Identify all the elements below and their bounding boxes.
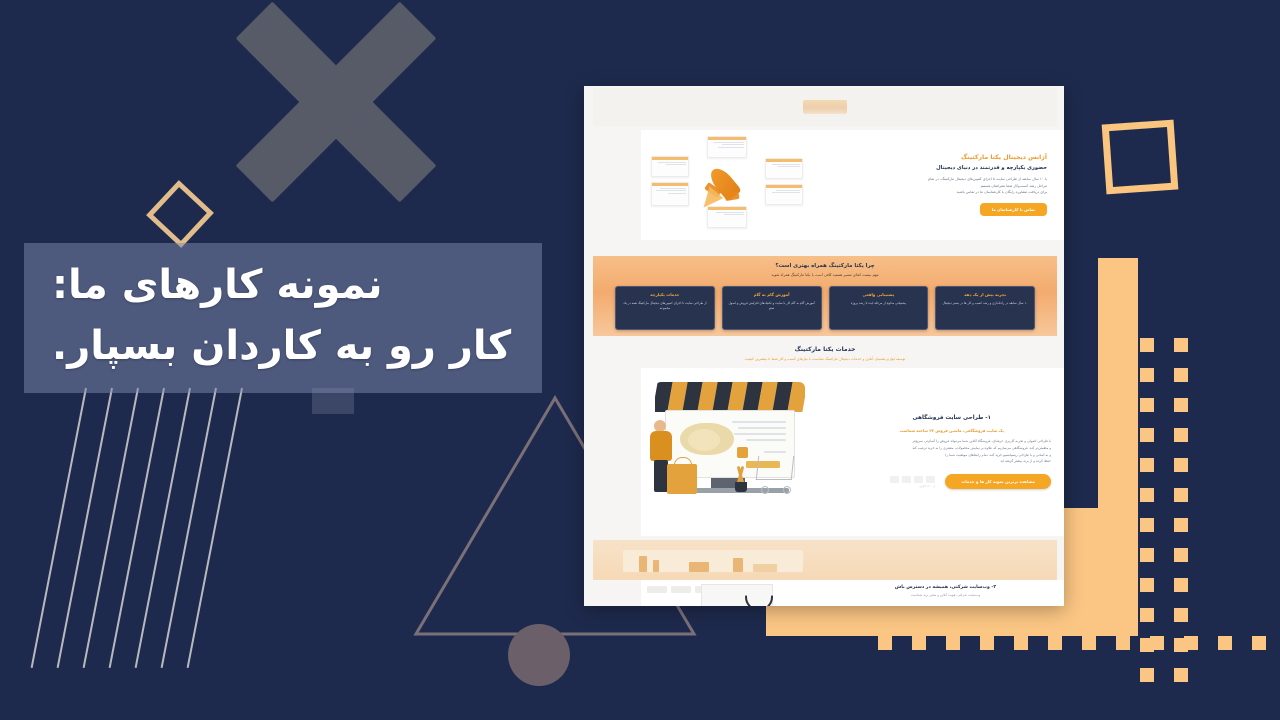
service-text-block: ۱- طراحی سایت فروشگاهی یک سایت فروشگاهی،… <box>845 415 1064 490</box>
bottom-text-block: ۲- وب‌سایت شرکتی، همیشه در دسترس باش وب‌… <box>836 580 1064 597</box>
service-meta-note: از ۱۴۰۰ تاکنون <box>890 485 935 488</box>
why-card-title: تجربه بیش از یک دهه <box>941 292 1029 297</box>
hero-paragraph-2: مراحل رشد کسب‌وکار شما همراهتان هستیم <box>842 183 1047 190</box>
why-card-title: آموزش گام به گام <box>728 292 816 297</box>
why-card-title: خدمات یکپارچه <box>621 292 709 297</box>
hero-title: آژانس دیجیتال یکتا مارکتینگ <box>842 154 1047 161</box>
service-item-highlight: یک سایت فروشگاهی، ماشین فروش ۲۴ ساعته شم… <box>853 428 1051 433</box>
circle-decoration <box>508 624 570 686</box>
shop-illustration <box>641 368 845 536</box>
service-paragraph-3: و به آسانی و با طراحی ریسپانسیو خرید کند… <box>853 452 1051 459</box>
headphone-product-icon <box>680 423 734 455</box>
why-card-text: ۱۰ سال سابقه در راه‌اندازی و رشد کسب و ک… <box>941 301 1029 307</box>
diamond-outline-decoration <box>146 180 214 248</box>
dot-grid-vertical-decoration <box>1140 338 1188 682</box>
hero-text-block: آژانس دیجیتال یکتا مارکتینگ حضوری یکپارچ… <box>836 154 1064 216</box>
why-card-text: پشتیبانی مداوم از مرحله ایده تا رشد پروژ… <box>835 301 923 307</box>
hero-paragraph-1: با ۱۰ سال سابقه از طراحی سایت تا اجرای ک… <box>842 176 1047 183</box>
why-title: چرا یکتا مارکتینگ همراه بهتری است؟ <box>617 263 1033 269</box>
bottom-illustration <box>641 580 836 606</box>
plant-icon <box>733 464 749 492</box>
hero-paragraph-3: برای دریافت مشاوره رایگان با کارشناسان م… <box>842 189 1047 196</box>
site-header <box>593 88 1057 126</box>
why-card[interactable]: پشتیبانی واقعی پشتیبانی مداوم از مرحله ا… <box>829 286 929 330</box>
why-card-title: پشتیبانی واقعی <box>835 292 923 297</box>
service-meta-block: از ۱۴۰۰ تاکنون <box>890 476 935 488</box>
bottom-service-card: ۲- وب‌سایت شرکتی، همیشه در دسترس باش وب‌… <box>641 580 1064 606</box>
bottom-item-subtitle: وب‌سایت شرکتی، هویت آنلاین و معتبر برند … <box>836 593 1055 597</box>
service-item-card: ۱- طراحی سایت فروشگاهی یک سایت فروشگاهی،… <box>641 368 1064 536</box>
service-paragraph-2: و مطمئن‌تر کند. فروشگاهی می‌سازیم که علا… <box>853 445 1051 452</box>
service-paragraph-1: با طراحی اصولی و تجربه کاربری حرفه‌ای، ف… <box>853 438 1051 445</box>
shopping-cart-icon <box>753 450 797 494</box>
shopping-bag-icon <box>667 464 697 494</box>
cross-shape-decoration <box>228 8 443 196</box>
bottom-decor-strip <box>593 540 1057 580</box>
caption-line-2: کار رو به کاردان بسپار. <box>52 316 511 377</box>
caption-line-1: نمونه کارهای ما: <box>52 255 383 316</box>
why-card[interactable]: تجربه بیش از یک دهه ۱۰ سال سابقه در راه‌… <box>935 286 1035 330</box>
services-header: خدمات یکتا مارکتینگ توسعه لوازم پشتیبان … <box>593 346 1057 361</box>
why-card-text: از طراحی سایت تا اجرای کمپین‌های دیجیتال… <box>621 301 709 312</box>
why-subtitle: مهم نیست کجای مسیر هستید کافی است با یکت… <box>617 273 1033 277</box>
caption-panel: نمونه کارهای ما: کار رو به کاردان بسپار. <box>24 243 542 393</box>
why-card-text: آموزش گام به گام کار با سایت و تکنیک‌های… <box>728 301 816 312</box>
hero-subtitle: حضوری یکپارچه و قدرتمند در دنیای دیجیتال <box>842 165 1047 171</box>
diagonal-lines-decoration <box>85 388 335 663</box>
service-item-title: ۱- طراحی سایت فروشگاهی <box>853 415 1051 421</box>
square-outline-decoration <box>1102 120 1179 195</box>
bottom-item-title: ۲- وب‌سایت شرکتی، همیشه در دسترس باش <box>836 585 1055 590</box>
site-logo <box>803 100 847 114</box>
service-paragraph-4: حفظ کرده و از برند بیشتر گرفته اید <box>853 458 1051 465</box>
shop-awning-icon <box>655 382 805 412</box>
why-card[interactable]: آموزش گام به گام آموزش گام به گام کار با… <box>722 286 822 330</box>
why-card[interactable]: خدمات یکپارچه از طراحی سایت تا اجرای کمپ… <box>615 286 715 330</box>
dot-grid-horizontal-decoration <box>878 636 1266 650</box>
why-cards-row: تجربه بیش از یک دهه ۱۰ سال سابقه در راه‌… <box>615 286 1035 330</box>
website-screenshot: آژانس دیجیتال یکتا مارکتینگ حضوری یکپارچ… <box>584 86 1064 606</box>
services-subtitle: توسعه لوازم پشتیبان آنلاین و خدمات دیجیت… <box>593 357 1057 361</box>
services-title: خدمات یکتا مارکتینگ <box>593 346 1057 353</box>
website-viewport: آژانس دیجیتال یکتا مارکتینگ حضوری یکپارچ… <box>593 88 1057 606</box>
service-cta-button[interactable]: مشاهده برترین نمونه کار ها و خدمات <box>945 474 1051 489</box>
hero-section: آژانس دیجیتال یکتا مارکتینگ حضوری یکپارچ… <box>641 130 1064 240</box>
service-footer-row: مشاهده برترین نمونه کار ها و خدمات از ۱۴… <box>853 474 1051 489</box>
orange-block-decoration <box>1098 258 1138 636</box>
hero-rocket-illustration <box>641 130 836 240</box>
hero-cta-button[interactable]: تماس با کارشناسان ما <box>980 203 1047 216</box>
why-section: چرا یکتا مارکتینگ همراه بهتری است؟ مهم ن… <box>593 256 1057 336</box>
